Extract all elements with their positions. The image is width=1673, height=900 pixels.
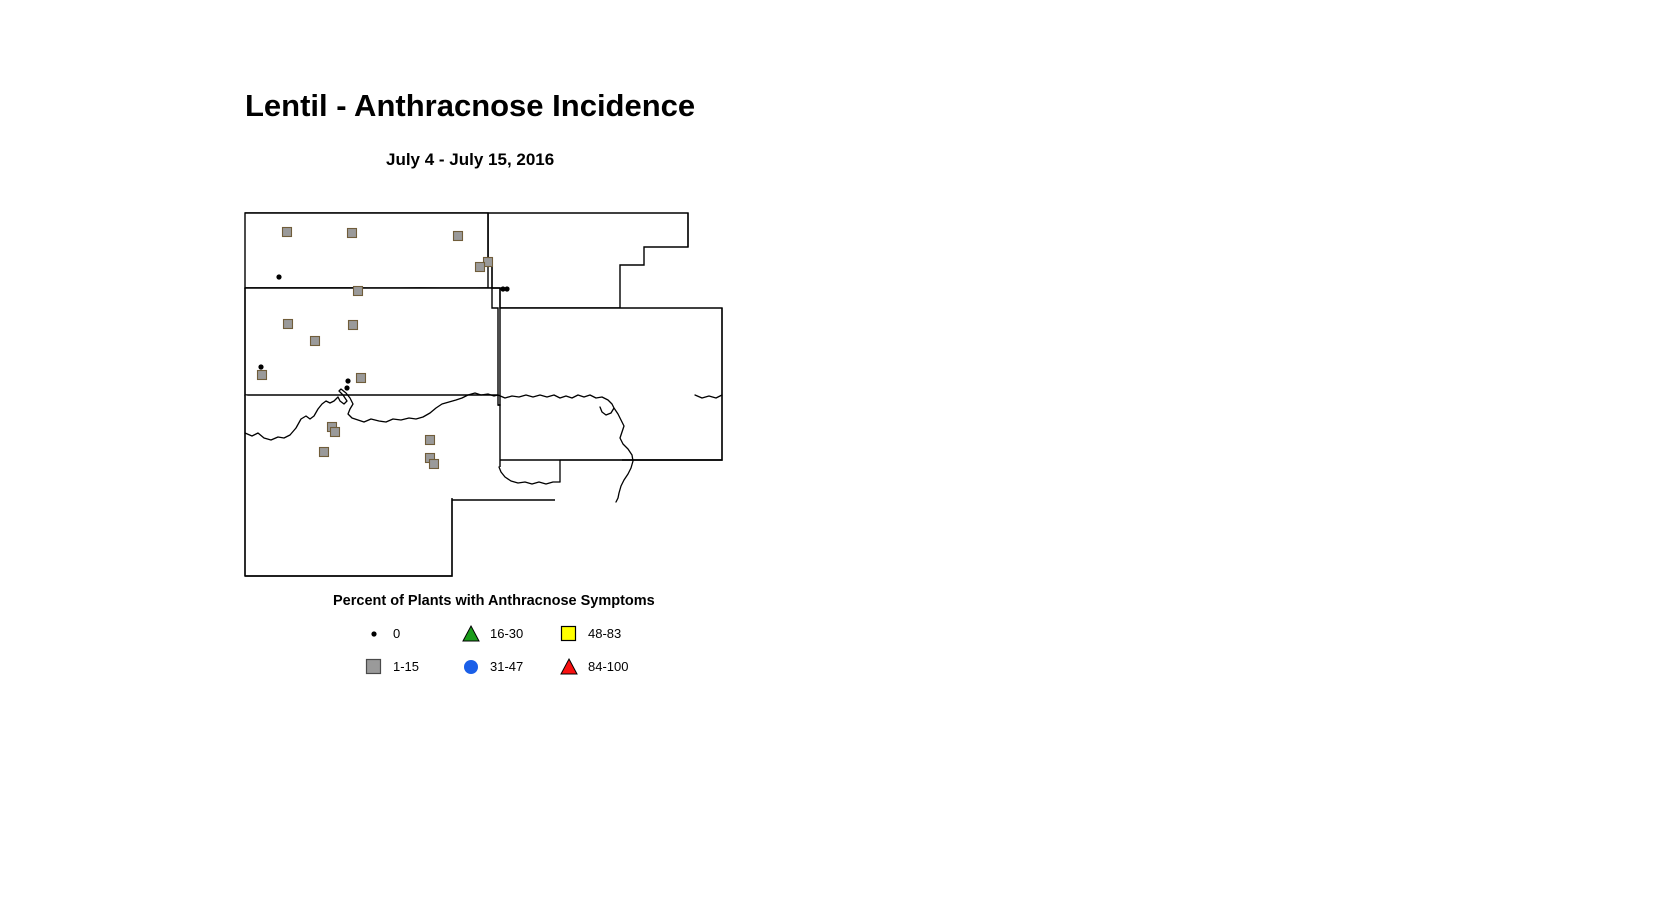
legend-circle-icon — [460, 655, 482, 677]
map-marker-low[interactable] — [454, 232, 463, 241]
legend-entry-label: 31-47 — [490, 659, 523, 674]
map-legend: Percent of Plants with Anthracnose Sympt… — [245, 590, 765, 685]
legend-entry-48-83[interactable]: 48-83 — [558, 618, 621, 648]
map-marker-low[interactable] — [354, 287, 363, 296]
east-county-outline — [500, 308, 722, 460]
map-page: Lentil - Anthracnose Incidence July 4 - … — [0, 0, 1673, 900]
map-marker-low[interactable] — [258, 371, 267, 380]
legend-square-icon — [558, 622, 580, 644]
legend-entry-1-15[interactable]: 1-15 — [363, 651, 419, 681]
legend-entry-label: 1-15 — [393, 659, 419, 674]
river-lower-segment — [499, 467, 560, 484]
legend-entry-31-47[interactable]: 31-47 — [460, 651, 523, 681]
legend-entry-16-30[interactable]: 16-30 — [460, 618, 523, 648]
map-marker-zero[interactable] — [258, 364, 263, 369]
legend-entry-label: 0 — [393, 626, 400, 641]
map-figure — [240, 205, 740, 590]
map-marker-low[interactable] — [476, 263, 485, 272]
legend-row: 1-1531-4784-100 — [245, 651, 765, 681]
legend-triangle-icon — [558, 655, 580, 677]
date-range-subtitle: July 4 - July 15, 2016 — [386, 150, 554, 170]
legend-square-icon — [363, 655, 385, 677]
map-marker-low[interactable] — [283, 228, 292, 237]
map-marker-low[interactable] — [320, 448, 329, 457]
map-marker-zero[interactable] — [504, 286, 509, 291]
legend-triangle-icon — [460, 622, 482, 644]
map-marker-low[interactable] — [430, 460, 439, 469]
map-marker-zero[interactable] — [276, 274, 281, 279]
page-title: Lentil - Anthracnose Incidence — [245, 88, 695, 124]
legend-row: 016-3048-83 — [245, 618, 765, 648]
legend-entry-label: 16-30 — [490, 626, 523, 641]
map-marker-low[interactable] — [426, 436, 435, 445]
map-marker-low[interactable] — [349, 321, 358, 330]
map-marker-zero[interactable] — [345, 378, 350, 383]
midwest-county-outline — [245, 288, 498, 395]
legend-entry-0[interactable]: 0 — [363, 618, 400, 648]
legend-dot-icon — [363, 622, 385, 644]
map-marker-low[interactable] — [311, 337, 320, 346]
map-marker-low[interactable] — [348, 229, 357, 238]
map-marker-low[interactable] — [331, 428, 340, 437]
legend-entry-label: 84-100 — [588, 659, 628, 674]
river-shelf-to-east — [560, 460, 722, 482]
map-graphic — [240, 205, 740, 590]
legend-entry-84-100[interactable]: 84-100 — [558, 651, 628, 681]
map-marker-zero[interactable] — [344, 385, 349, 390]
map-marker-low[interactable] — [284, 320, 293, 329]
legend-entry-label: 48-83 — [588, 626, 621, 641]
legend-title: Percent of Plants with Anthracnose Sympt… — [333, 593, 655, 609]
map-marker-low[interactable] — [357, 374, 366, 383]
central-lower-vertical — [498, 395, 500, 467]
